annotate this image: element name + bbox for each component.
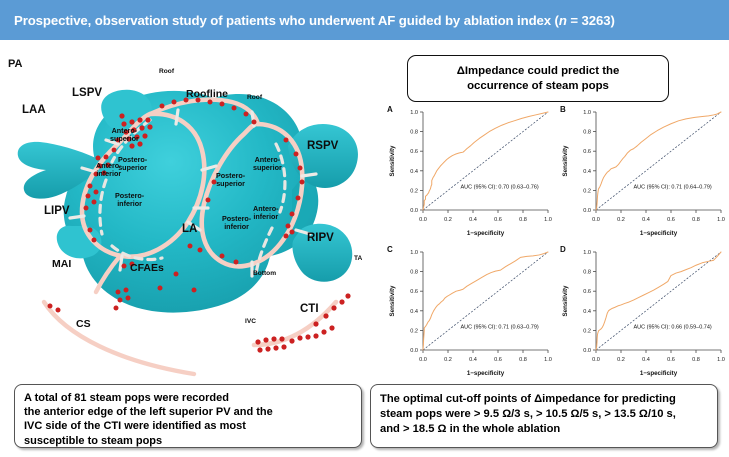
label-left-antero-superior: Antero-superior xyxy=(110,127,139,143)
x-tick-label: 0.2 xyxy=(617,357,625,363)
auc-annotation: AUC (95% CI): 0.66 (0.59–0.74) xyxy=(634,324,712,330)
label-right-antero-inferior: Antero-inferior xyxy=(253,205,279,221)
y-tick-label: 0.6 xyxy=(410,289,418,295)
x-tick-label: 0.0 xyxy=(592,217,600,223)
x-tick-label: 0.0 xyxy=(592,357,600,363)
x-tick-label: 0.2 xyxy=(617,217,625,223)
roc-panel-d: D0.00.20.40.60.81.00.00.20.40.60.81.01−s… xyxy=(556,240,729,380)
label-cti: CTI xyxy=(300,303,319,315)
figure-title-n-italic: n xyxy=(559,13,567,28)
y-tick-label: 0.8 xyxy=(583,130,591,136)
label-lipv: LIPV xyxy=(44,205,70,217)
y-tick-label: 1.0 xyxy=(410,250,418,256)
x-tick-label: 0.8 xyxy=(692,217,700,223)
label-bottom: Bottom xyxy=(253,270,276,277)
x-tick-label: 0.2 xyxy=(444,217,452,223)
y-tick-label: 0.8 xyxy=(583,270,591,276)
x-tick-label: 1.0 xyxy=(544,357,552,363)
roc-panel-letter: D xyxy=(560,245,566,254)
x-tick-label: 0.4 xyxy=(642,217,650,223)
figure-title-post: = 3263) xyxy=(567,13,615,28)
x-axis-label: 1−specificity xyxy=(467,230,505,237)
figure-title-pre: Prospective, observation study of patien… xyxy=(14,13,559,28)
label-la: LA xyxy=(182,223,197,235)
reference-diagonal-line xyxy=(423,112,548,210)
view-orientation-label: PA xyxy=(8,58,22,70)
label-ivc: IVC xyxy=(245,318,256,325)
label-ripv: RIPV xyxy=(307,232,334,244)
label-cfaes: CFAEs xyxy=(130,262,164,274)
roc-panel-c: C0.00.20.40.60.81.00.00.20.40.60.81.01−s… xyxy=(383,240,556,380)
label-ta: TA xyxy=(354,255,362,262)
summary-line-1: A total of 81 steam pops were recorded xyxy=(24,391,352,405)
roc-curve-grid: A0.00.20.40.60.81.00.00.20.40.60.81.01−s… xyxy=(383,100,729,380)
roc-panel-b: B0.00.20.40.60.81.00.00.20.40.60.81.01−s… xyxy=(556,100,729,240)
roc-plot-a: A0.00.20.40.60.81.00.00.20.40.60.81.01−s… xyxy=(383,100,556,240)
y-axis-label: Sensitivity xyxy=(389,145,396,177)
left-atrium-anatomy-panel: PA xyxy=(0,40,380,378)
y-axis-label: Sensitivity xyxy=(562,145,569,177)
y-axis-label: Sensitivity xyxy=(389,285,396,317)
x-tick-label: 0.4 xyxy=(469,357,477,363)
auc-annotation: AUC (95% CI): 0.71 (0.63–0.79) xyxy=(461,324,539,330)
x-tick-label: 0.4 xyxy=(469,217,477,223)
y-tick-label: 0.8 xyxy=(410,270,418,276)
y-tick-label: 1.0 xyxy=(410,110,418,116)
y-axis-label: Sensitivity xyxy=(562,285,569,317)
roc-panel-a: A0.00.20.40.60.81.00.00.20.40.60.81.01−s… xyxy=(383,100,556,240)
y-tick-label: 1.0 xyxy=(583,250,591,256)
roc-panel-letter: C xyxy=(387,245,393,254)
callout-line-1: ΔImpedance could predict the xyxy=(457,64,620,79)
figure-title: Prospective, observation study of patien… xyxy=(0,13,615,28)
y-tick-label: 0.8 xyxy=(410,130,418,136)
reference-diagonal-line xyxy=(596,252,721,350)
y-tick-label: 1.0 xyxy=(583,110,591,116)
x-tick-label: 0.0 xyxy=(419,357,427,363)
x-axis-label: 1−specificity xyxy=(640,370,678,377)
roc-panel-letter: B xyxy=(560,105,566,114)
y-tick-label: 0.2 xyxy=(410,328,418,334)
x-tick-label: 0.8 xyxy=(519,357,527,363)
label-mai: MAI xyxy=(52,258,71,270)
steam-pop-summary-box: A total of 81 steam pops were recorded t… xyxy=(14,384,362,448)
cutoff-line-1: The optimal cut-off points of Δimpedance… xyxy=(380,392,708,407)
y-tick-label: 0.6 xyxy=(583,289,591,295)
label-left-postero-inferior: Postero-inferior xyxy=(115,192,144,208)
y-tick-label: 0.2 xyxy=(583,328,591,334)
y-tick-label: 0.0 xyxy=(410,348,418,354)
y-tick-label: 0.2 xyxy=(410,188,418,194)
y-tick-label: 0.6 xyxy=(583,149,591,155)
roc-panel-letter: A xyxy=(387,105,393,114)
x-tick-label: 0.6 xyxy=(494,357,502,363)
summary-line-4: susceptible to steam pops xyxy=(24,434,352,448)
y-tick-label: 0.0 xyxy=(410,208,418,214)
x-tick-label: 0.4 xyxy=(642,357,650,363)
roc-plot-c: C0.00.20.40.60.81.00.00.20.40.60.81.01−s… xyxy=(383,240,556,380)
summary-line-3: IVC side of the CTI were identified as m… xyxy=(24,419,352,433)
figure-root: Prospective, observation study of patien… xyxy=(0,0,729,457)
x-tick-label: 0.8 xyxy=(519,217,527,223)
x-tick-label: 0.6 xyxy=(667,357,675,363)
roc-plot-b: B0.00.20.40.60.81.00.00.20.40.60.81.01−s… xyxy=(556,100,729,240)
y-tick-label: 0.6 xyxy=(410,149,418,155)
x-tick-label: 0.0 xyxy=(419,217,427,223)
x-tick-label: 1.0 xyxy=(717,217,725,223)
reference-diagonal-line xyxy=(596,112,721,210)
x-tick-label: 0.6 xyxy=(667,217,675,223)
label-right-postero-inferior: Postero-inferior xyxy=(222,215,251,231)
label-right-postero-superior: Postero-superior xyxy=(216,172,245,188)
label-cs: CS xyxy=(76,318,91,330)
x-tick-label: 0.6 xyxy=(494,217,502,223)
x-tick-label: 1.0 xyxy=(544,217,552,223)
label-roofline: Roofline xyxy=(186,88,228,100)
x-tick-label: 0.2 xyxy=(444,357,452,363)
y-tick-label: 0.0 xyxy=(583,348,591,354)
y-tick-label: 0.4 xyxy=(410,169,418,175)
label-right-antero-superior: Antero-superior xyxy=(253,156,282,172)
cs-catheter-line xyxy=(44,302,194,374)
label-left-postero-superior: Postero-superior xyxy=(118,156,147,172)
y-tick-label: 0.4 xyxy=(583,169,591,175)
x-tick-label: 0.8 xyxy=(692,357,700,363)
auc-annotation: AUC (95% CI): 0.71 (0.64–0.79) xyxy=(634,184,712,190)
y-tick-label: 0.4 xyxy=(410,309,418,315)
cutoff-points-box: The optimal cut-off points of Δimpedance… xyxy=(370,384,718,448)
cutoff-line-3: and > 18.5 Ω in the whole ablation xyxy=(380,422,708,437)
callout-line-2: occurrence of steam pops xyxy=(467,79,609,94)
summary-line-2: the anterior edge of the left superior P… xyxy=(24,405,352,419)
label-rspv: RSPV xyxy=(307,140,338,152)
y-tick-label: 0.4 xyxy=(583,309,591,315)
x-axis-label: 1−specificity xyxy=(467,370,505,377)
label-lspv: LSPV xyxy=(72,87,102,99)
y-tick-label: 0.0 xyxy=(583,208,591,214)
label-laa: LAA xyxy=(22,104,46,116)
y-tick-label: 0.2 xyxy=(583,188,591,194)
x-axis-label: 1−specificity xyxy=(640,230,678,237)
label-roof-left: Roof xyxy=(159,68,174,75)
roc-plot-d: D0.00.20.40.60.81.00.00.20.40.60.81.01−s… xyxy=(556,240,729,380)
key-finding-callout: ΔImpedance could predict the occurrence … xyxy=(407,55,669,102)
figure-header-bar: Prospective, observation study of patien… xyxy=(0,0,729,40)
label-roof-right: Roof xyxy=(247,94,262,101)
cutoff-line-2: steam pops were > 9.5 Ω/3 s, > 10.5 Ω/5 … xyxy=(380,407,708,422)
x-tick-label: 1.0 xyxy=(717,357,725,363)
auc-annotation: AUC (95% CI): 0.70 (0.63–0.76) xyxy=(461,184,539,190)
